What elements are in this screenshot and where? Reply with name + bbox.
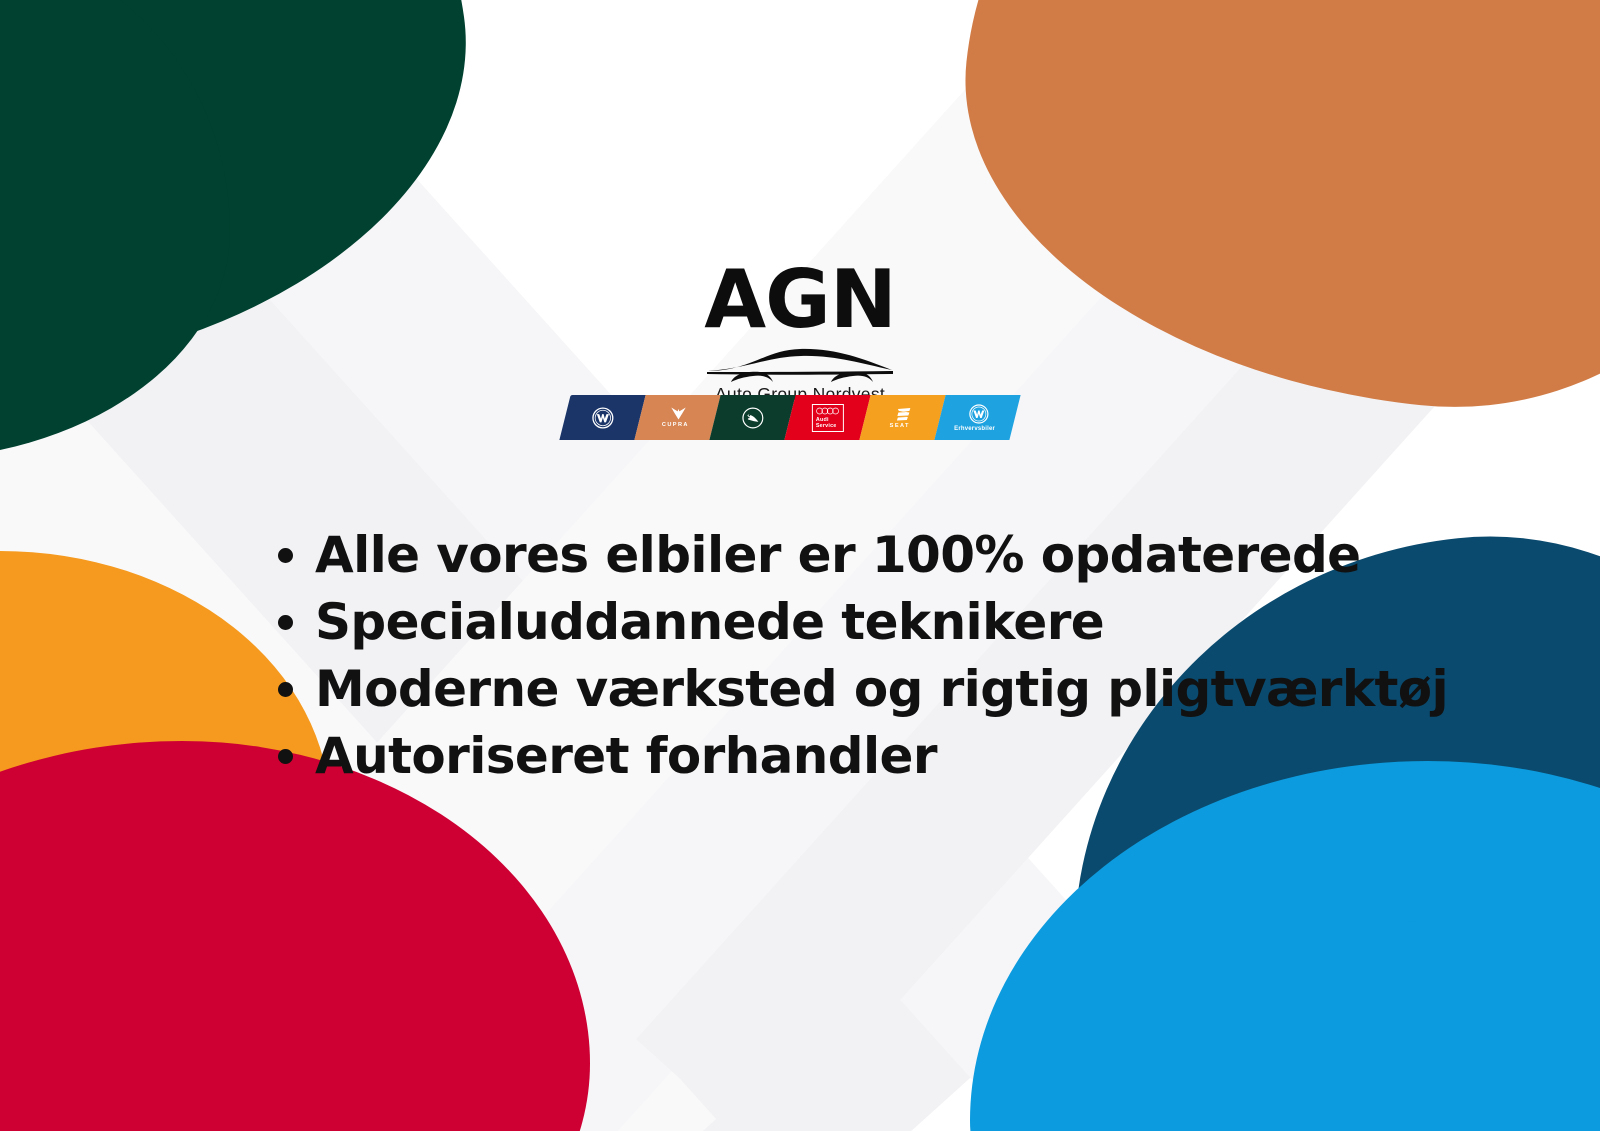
brand-tile-label: CUPRA <box>662 423 689 429</box>
brand-tile-label: Erhvervsbiler <box>954 426 995 432</box>
bullet-dot-icon <box>278 548 293 563</box>
bullet-text: Autoriseret forhandler <box>315 725 937 787</box>
audi-word-service: Service <box>816 422 837 428</box>
list-item: Autoriseret forhandler <box>278 725 1458 787</box>
bullet-dot-icon <box>278 682 293 697</box>
bullet-text: Alle vores elbiler er 100% opdaterede <box>315 524 1360 586</box>
audi-word-audi: Audi <box>816 416 837 422</box>
audi-rings-icon <box>816 407 840 415</box>
decor-blob-red <box>0 741 590 1131</box>
skoda-logo-icon <box>742 407 764 429</box>
audi-service-badge: Audi Service <box>812 404 844 432</box>
vw-logo-icon <box>968 404 988 424</box>
brand-tile-skoda <box>709 395 795 440</box>
audi-service-text: Audi Service <box>816 416 837 428</box>
brand-tile-cupra: CUPRA <box>634 395 720 440</box>
bullet-dot-icon <box>278 615 293 630</box>
brand-tile-volkswagen <box>559 395 645 440</box>
agn-wordmark: AGN <box>0 262 1600 339</box>
list-item: Alle vores elbiler er 100% opdaterede <box>278 524 1458 586</box>
brand-strip: CUPRA Audi Service <box>565 395 1015 440</box>
bullet-text: Moderne værksted og rigtig pligtværktøj <box>315 658 1448 720</box>
vw-logo-icon <box>592 407 614 429</box>
brand-tile-seat: SEAT <box>859 395 945 440</box>
brand-tile-volkswagen-erhvervsbiler: Erhvervsbiler <box>934 395 1020 440</box>
agn-logo: AGN Auto Group Nordvest <box>0 262 1600 405</box>
poster-canvas: AGN Auto Group Nordvest CUPRA <box>0 0 1600 1131</box>
cupra-logo-icon <box>670 406 687 421</box>
brand-tile-audi-service: Audi Service <box>784 395 870 440</box>
bullet-dot-icon <box>278 749 293 764</box>
seat-logo-icon <box>895 406 911 422</box>
feature-bullet-list: Alle vores elbiler er 100% opdaterede Sp… <box>278 524 1458 792</box>
brand-tile-label: SEAT <box>890 424 910 430</box>
list-item: Moderne værksted og rigtig pligtværktøj <box>278 658 1458 720</box>
list-item: Specialuddannede teknikere <box>278 591 1458 653</box>
bullet-text: Specialuddannede teknikere <box>315 591 1104 653</box>
car-silhouette-swoosh <box>705 341 895 383</box>
